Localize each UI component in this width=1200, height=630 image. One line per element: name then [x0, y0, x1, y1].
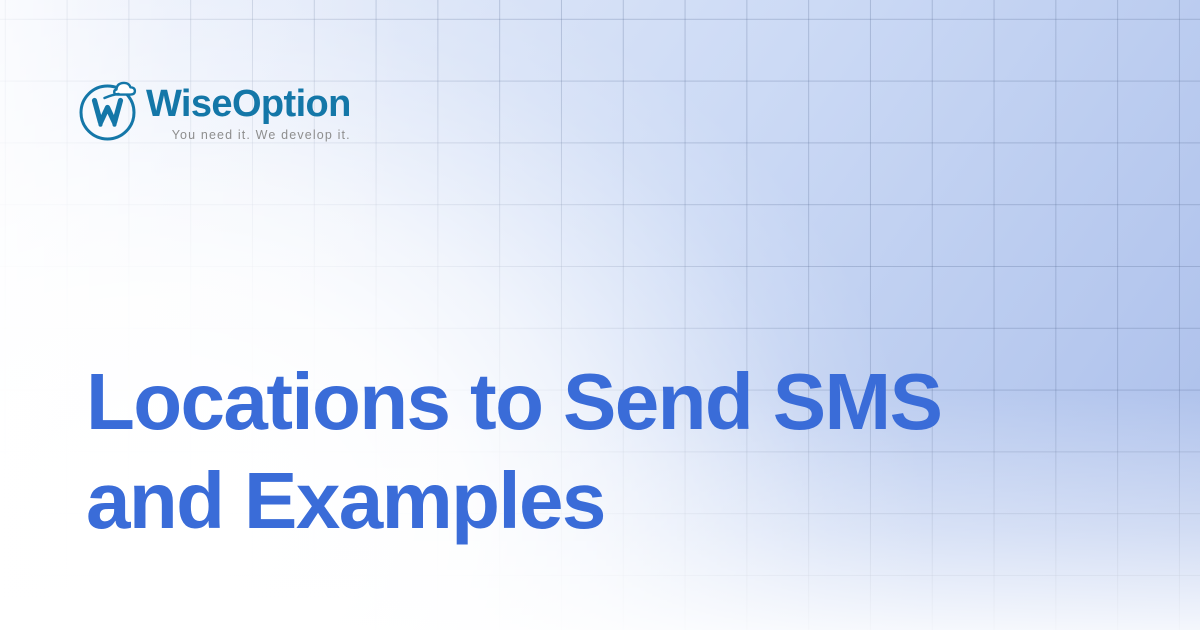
brand-logo-text: WiseOption You need it. We develop it. — [146, 76, 351, 142]
wiseoption-w-circle-cloud-icon — [78, 76, 142, 144]
brand-logo[interactable]: WiseOption You need it. We develop it. — [78, 76, 351, 144]
brand-wordmark: WiseOption — [146, 85, 351, 123]
banner-hero: WiseOption You need it. We develop it. L… — [0, 0, 1200, 630]
page-title: Locations to Send SMS and Examples — [86, 352, 1136, 550]
brand-tagline: You need it. We develop it. — [146, 128, 351, 142]
page-title-line-2: and Examples — [86, 451, 1136, 550]
page-title-line-1: Locations to Send SMS — [86, 352, 1136, 451]
